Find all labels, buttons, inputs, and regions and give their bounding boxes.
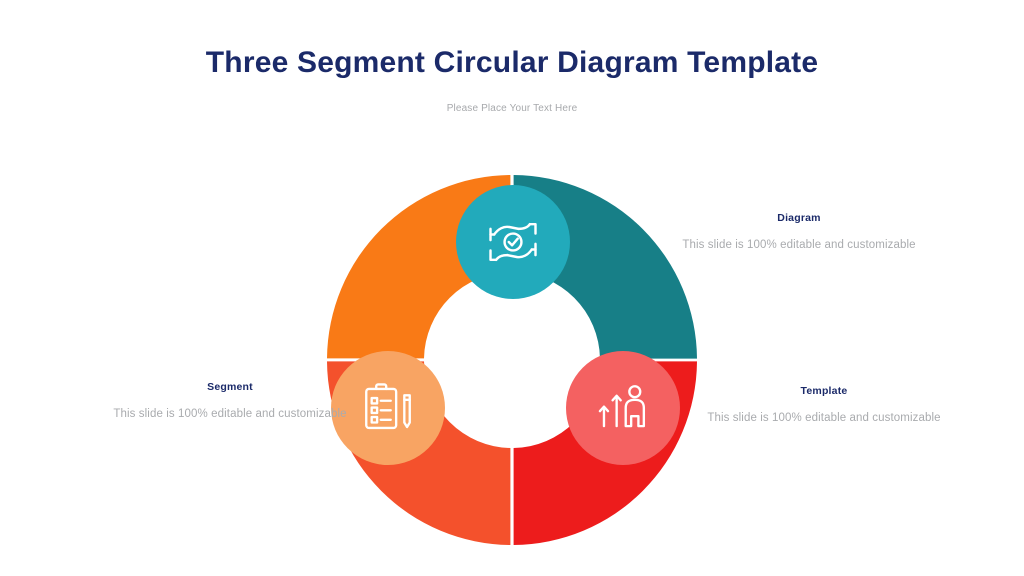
callout-template-body: This slide is 100% editable and customiz… [680, 410, 968, 428]
callout-diagram-heading: Diagram [655, 212, 943, 224]
growth-arrows-person-icon [594, 379, 652, 437]
icon-bubble-diagram[interactable] [456, 185, 570, 299]
callout-template: Template This slide is 100% editable and… [680, 385, 968, 428]
page-subtitle: Please Place Your Text Here [0, 103, 1024, 114]
hands-holding-check-icon [483, 212, 543, 272]
callout-segment: Segment This slide is 100% editable and … [86, 381, 374, 424]
callout-segment-heading: Segment [86, 381, 374, 393]
callout-segment-body: This slide is 100% editable and customiz… [86, 406, 374, 424]
slide-canvas: Three Segment Circular Diagram Template … [0, 0, 1024, 576]
callout-template-heading: Template [680, 385, 968, 397]
callout-diagram: Diagram This slide is 100% editable and … [655, 212, 943, 255]
page-title: Three Segment Circular Diagram Template [0, 46, 1024, 81]
callout-diagram-body: This slide is 100% editable and customiz… [655, 237, 943, 255]
icon-bubble-template[interactable] [566, 351, 680, 465]
